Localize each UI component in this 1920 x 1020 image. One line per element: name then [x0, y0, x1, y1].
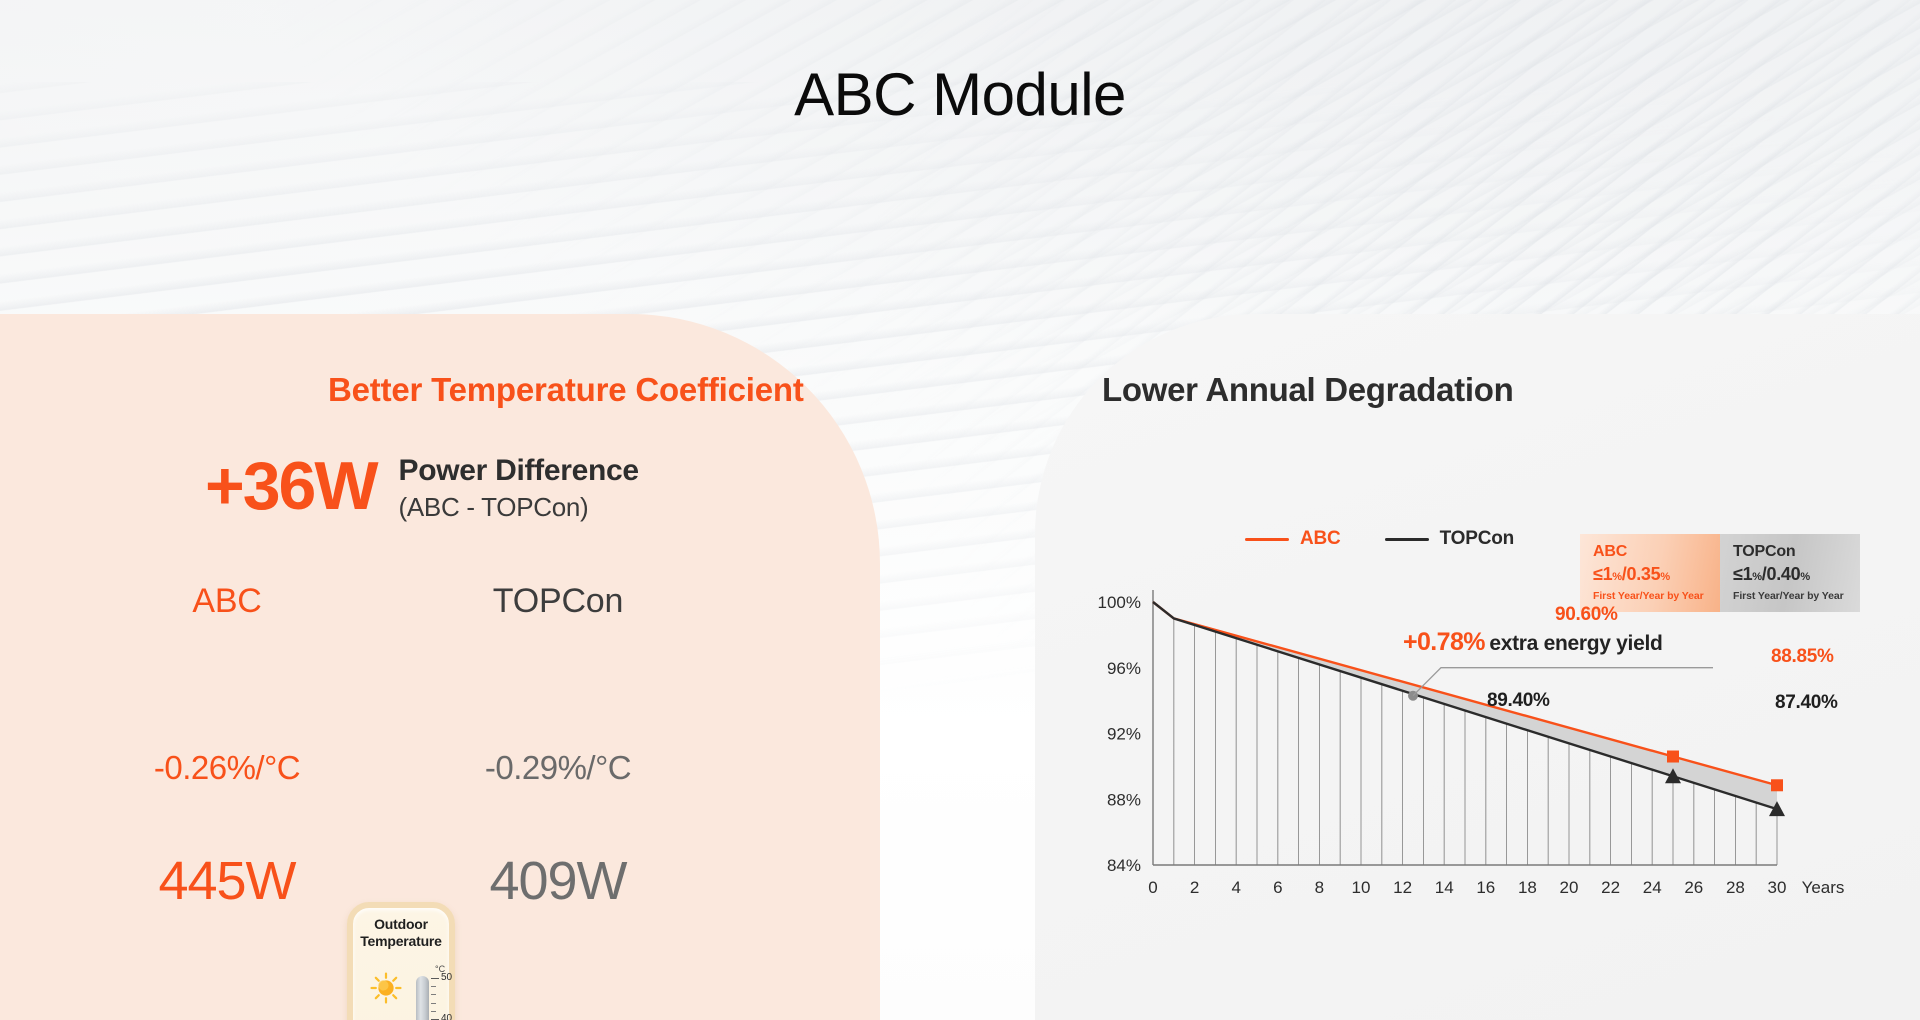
chart-y-tick-label: 100%: [1098, 593, 1141, 612]
thermometer-tick-minor: [431, 1011, 436, 1012]
thermometer-title-line1: Outdoor: [353, 916, 449, 933]
chart-x-tick-label: 8: [1315, 878, 1324, 897]
chart-x-tick-label: 30: [1768, 878, 1787, 897]
badge-abc-name: ABC: [1593, 543, 1708, 561]
power-difference-caption-line1: Power Difference: [399, 454, 639, 488]
thermometer-tick-label: 50: [441, 972, 452, 983]
left-panel-title: Better Temperature Coefficient: [328, 371, 804, 409]
chart-annotation-value: +0.78%: [1403, 628, 1485, 656]
chart-x-tick-label: 24: [1643, 878, 1662, 897]
chart-y-tick-label: 84%: [1107, 856, 1141, 875]
thermometer-tick-minor: [431, 986, 436, 987]
thermometer-tick-minor: [431, 994, 436, 995]
power-difference-caption-line2: (ABC - TOPCon): [399, 492, 639, 523]
chart-x-tick-label: 28: [1726, 878, 1745, 897]
chart-x-tick-label: 26: [1684, 878, 1703, 897]
topcon-brand-label: TOPCon: [413, 582, 703, 621]
chart-x-tick-label: 2: [1190, 878, 1199, 897]
legend-item-abc: ABC: [1245, 528, 1341, 550]
chart-x-tick-label: 22: [1601, 878, 1620, 897]
legend-label-topcon: TOPCon: [1440, 528, 1514, 550]
data-label-topcon-year25: 89.40%: [1487, 690, 1550, 712]
chart-x-tick-label: 12: [1393, 878, 1412, 897]
chart-y-tick-label: 92%: [1107, 725, 1141, 744]
chart-x-tick-label: 18: [1518, 878, 1537, 897]
chart-y-tick-label: 96%: [1107, 659, 1141, 678]
comparison-column-topcon: TOPCon -0.29%/°C 409W: [413, 582, 703, 621]
abc-power-output: 445W: [82, 850, 372, 912]
chart-x-tick-label: 6: [1273, 878, 1282, 897]
page-title: ABC Module: [0, 60, 1920, 129]
topcon-power-output: 409W: [413, 850, 703, 912]
chart-x-tick-label: 0: [1148, 878, 1157, 897]
legend-item-topcon: TOPCon: [1385, 528, 1514, 550]
data-label-topcon-year30: 87.40%: [1775, 692, 1838, 714]
thermometer-tick-major: [431, 978, 439, 979]
chart-x-axis-label: Years: [1802, 878, 1845, 897]
chart-x-tick-label: 10: [1352, 878, 1371, 897]
chart-legend: ABC TOPCon: [1245, 528, 1514, 550]
thermometer-title-line2: Temperature: [353, 933, 449, 950]
legend-line-topcon-icon: [1385, 538, 1429, 541]
chart-annotation: +0.78% extra energy yield: [1403, 628, 1663, 657]
sun-icon: [369, 971, 403, 1005]
chart-marker-abc: [1771, 779, 1783, 791]
data-label-abc-year30: 88.85%: [1771, 646, 1834, 668]
thermometer-tick-label: 40: [441, 1013, 452, 1020]
chart-x-tick-label: 14: [1435, 878, 1454, 897]
badge-topcon-name: TOPCon: [1733, 543, 1848, 561]
power-difference-caption: Power Difference (ABC - TOPCon): [399, 454, 639, 523]
left-panel: Better Temperature Coefficient +36W Powe…: [0, 314, 880, 1020]
power-difference-block: +36W Power Difference (ABC - TOPCon): [205, 452, 639, 523]
power-difference-value: +36W: [205, 452, 377, 520]
legend-label-abc: ABC: [1300, 528, 1341, 550]
comparison-column-abc: ABC -0.26%/°C 445W: [82, 582, 372, 621]
thermometer-scale: °C 50403020100-10-20: [431, 964, 461, 1020]
thermometer-tick-minor: [431, 1003, 436, 1004]
legend-line-abc-icon: [1245, 538, 1289, 541]
data-label-abc-year25: 90.60%: [1555, 604, 1618, 626]
thermometer-title: Outdoor Temperature: [353, 916, 449, 949]
topcon-temperature-coefficient: -0.29%/°C: [413, 749, 703, 787]
chart-x-tick-label: 20: [1560, 878, 1579, 897]
abc-temperature-coefficient: -0.26%/°C: [82, 749, 372, 787]
right-panel-title: Lower Annual Degradation: [1102, 371, 1513, 409]
thermometer-card: Outdoor Temperature: [347, 902, 455, 1020]
chart-y-tick-label: 88%: [1107, 790, 1141, 809]
chart-x-tick-label: 16: [1476, 878, 1495, 897]
chart-annotation-leader: [1413, 668, 1713, 696]
chart-annotation-text: extra energy yield: [1489, 632, 1662, 655]
chart-x-tick-label: 4: [1231, 878, 1240, 897]
thermometer-tube: [416, 976, 429, 1020]
abc-brand-label: ABC: [82, 582, 372, 621]
slide-root: ABC Module Better Temperature Coefficien…: [0, 0, 1920, 1020]
degradation-chart: 84%88%92%96%100%024681012141618202224262…: [1085, 580, 1885, 920]
chart-marker-abc: [1667, 751, 1679, 763]
